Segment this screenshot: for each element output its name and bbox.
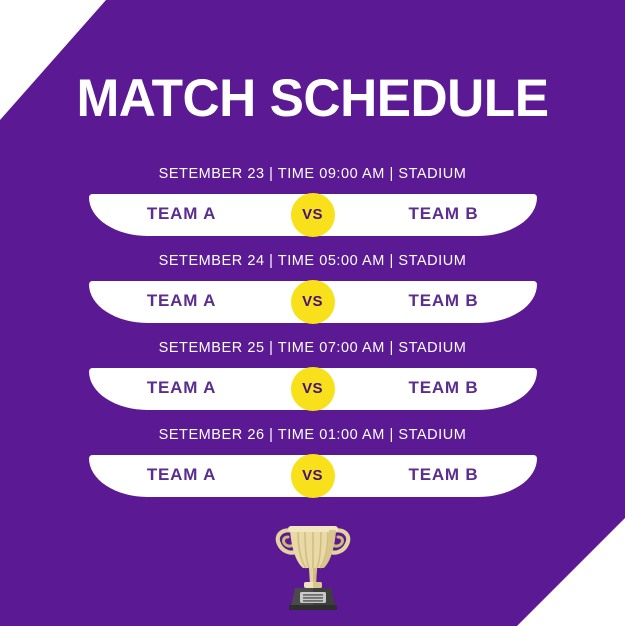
away-team-label: TEAM B	[359, 205, 529, 224]
match-bar: TEAM A TEAM B VS	[89, 368, 537, 410]
match-schedule-poster: MATCH SCHEDULE SETEMBER 23 | TIME 09:00 …	[0, 0, 625, 626]
vs-badge: VS	[291, 280, 335, 324]
vs-badge: VS	[291, 193, 335, 237]
vs-badge: VS	[291, 367, 335, 411]
away-team-label: TEAM B	[359, 466, 529, 485]
match-row[interactable]: SETEMBER 23 | TIME 09:00 AM | STADIUM TE…	[0, 163, 625, 250]
match-meta: SETEMBER 24 | TIME 05:00 AM | STADIUM	[0, 250, 625, 269]
trophy-icon	[268, 518, 358, 610]
away-team-label: TEAM B	[359, 379, 529, 398]
home-team-label: TEAM A	[97, 292, 267, 311]
match-bar: TEAM A TEAM B VS	[89, 281, 537, 323]
match-bar: TEAM A TEAM B VS	[89, 194, 537, 236]
home-team-label: TEAM A	[97, 379, 267, 398]
page-title: MATCH SCHEDULE	[9, 72, 615, 125]
match-bar: TEAM A TEAM B VS	[89, 455, 537, 497]
match-row[interactable]: SETEMBER 25 | TIME 07:00 AM | STADIUM TE…	[0, 337, 625, 424]
home-team-label: TEAM A	[97, 466, 267, 485]
match-meta: SETEMBER 25 | TIME 07:00 AM | STADIUM	[0, 337, 625, 356]
match-meta: SETEMBER 23 | TIME 09:00 AM | STADIUM	[0, 163, 625, 182]
match-meta: SETEMBER 26 | TIME 01:00 AM | STADIUM	[0, 424, 625, 443]
match-row[interactable]: SETEMBER 26 | TIME 01:00 AM | STADIUM TE…	[0, 424, 625, 511]
vs-badge: VS	[291, 454, 335, 498]
match-row[interactable]: SETEMBER 24 | TIME 05:00 AM | STADIUM TE…	[0, 250, 625, 337]
away-team-label: TEAM B	[359, 292, 529, 311]
home-team-label: TEAM A	[97, 205, 267, 224]
match-list: SETEMBER 23 | TIME 09:00 AM | STADIUM TE…	[0, 163, 625, 511]
